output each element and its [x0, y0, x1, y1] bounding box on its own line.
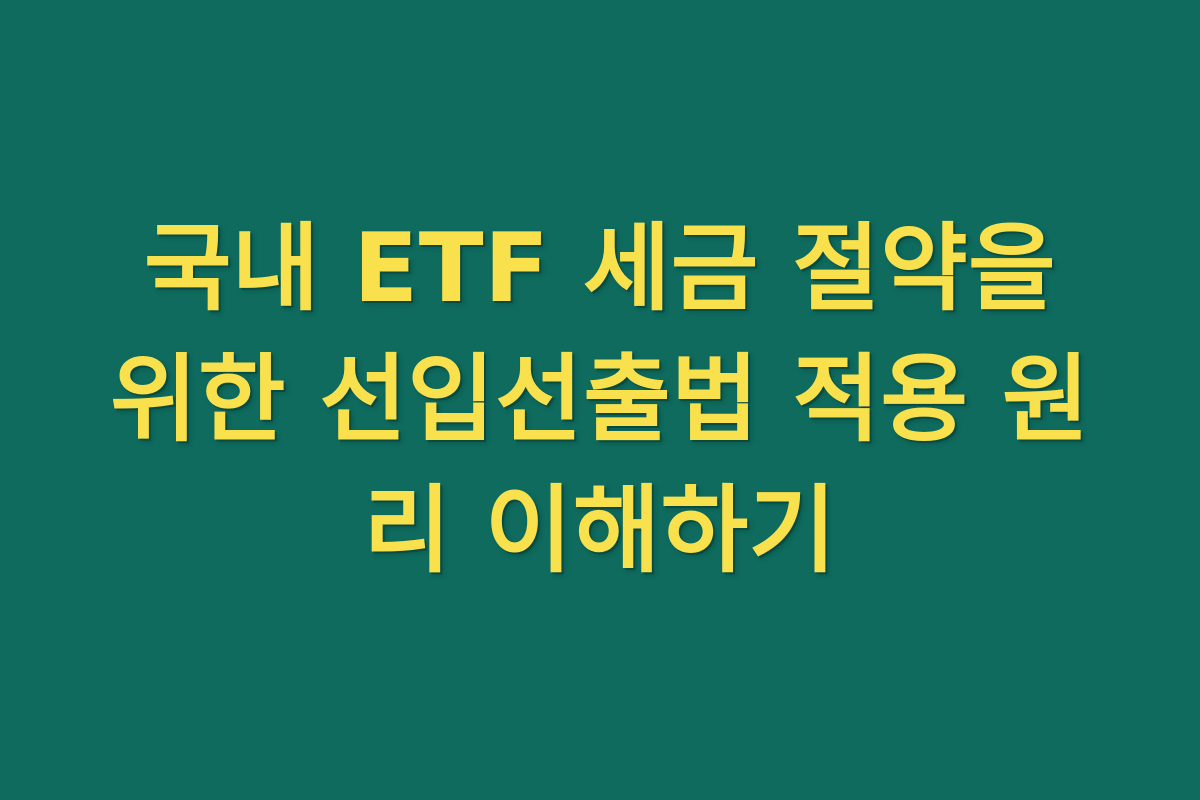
page-title: 국내 ETF 세금 절약을 위한 선입선출법 적용 원 리 이해하기 — [70, 204, 1130, 597]
title-line-3: 리 이해하기 — [80, 466, 1120, 597]
title-line-2: 위한 선입선출법 적용 원 — [80, 335, 1120, 466]
title-banner: 국내 ETF 세금 절약을 위한 선입선출법 적용 원 리 이해하기 — [0, 0, 1200, 800]
title-line-1: 국내 ETF 세금 절약을 — [80, 204, 1120, 335]
